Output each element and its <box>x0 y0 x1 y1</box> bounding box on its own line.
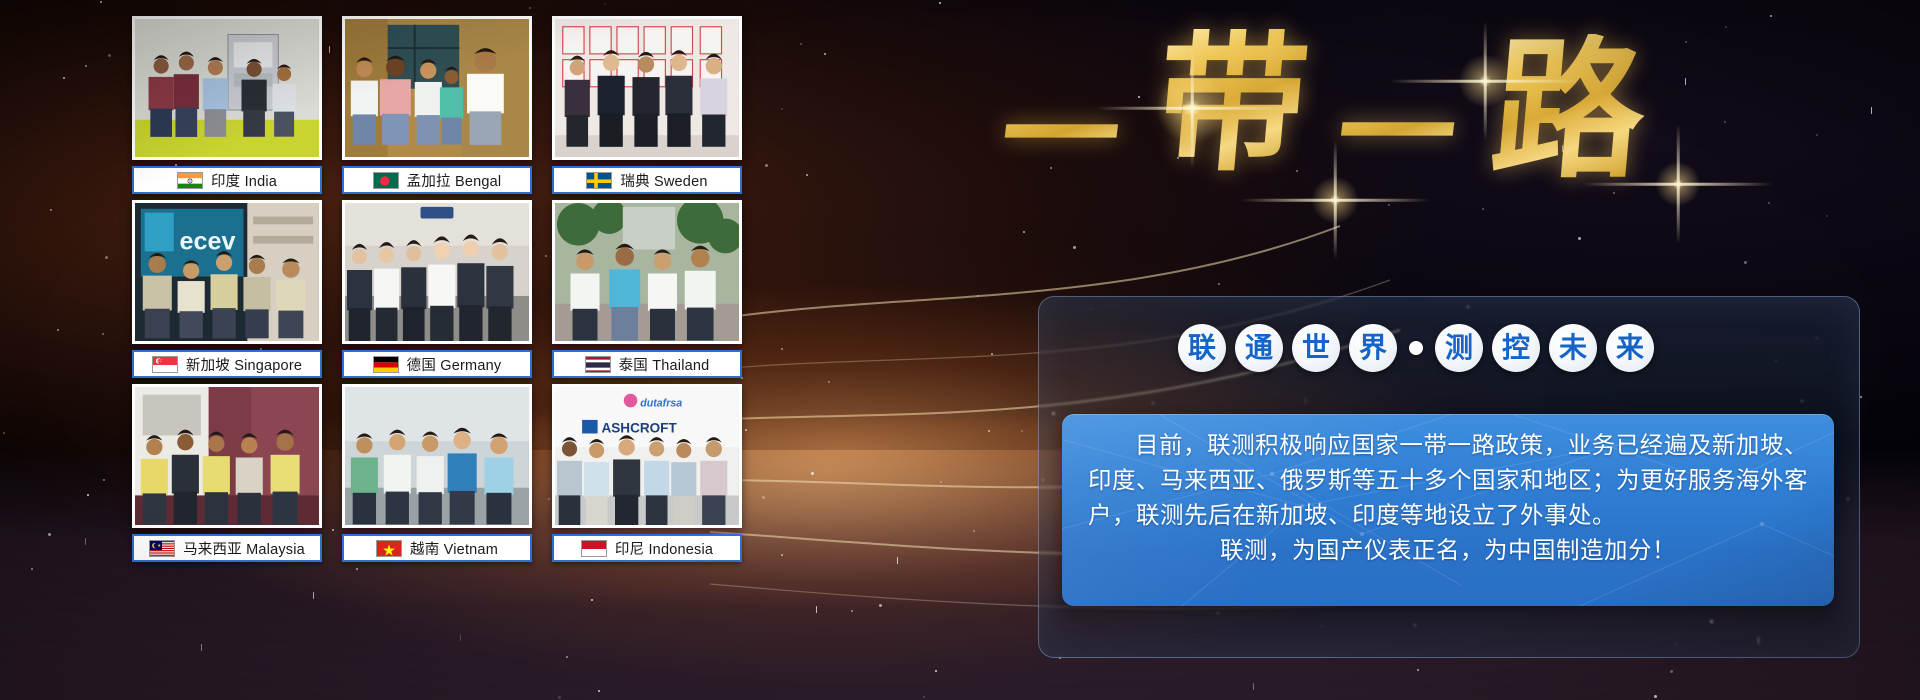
slogan-row: 联通世界测控未来 <box>1178 324 1654 372</box>
gallery-caption-label: 新加坡 Singapore <box>186 354 302 375</box>
gallery-photo[interactable]: dutafrsa ASHCROFT <box>552 384 742 528</box>
gallery-caption: 新加坡 Singapore <box>132 350 322 378</box>
svg-text:ecev: ecev <box>180 227 236 255</box>
gallery-caption-label: 孟加拉 Bengal <box>407 170 502 191</box>
gallery-item[interactable]: 越南 Vietnam <box>342 384 532 568</box>
svg-text:dutafrsa: dutafrsa <box>640 397 682 409</box>
slogan-char-b-3: 未 <box>1549 324 1597 372</box>
gallery-item[interactable]: 马来西亚 Malaysia <box>132 384 322 568</box>
gallery-item[interactable]: 德国 Germany <box>342 200 532 384</box>
gallery-photo[interactable] <box>342 200 532 344</box>
gallery-caption-label: 瑞典 Sweden <box>620 170 707 191</box>
gallery-photo[interactable] <box>132 384 322 528</box>
gallery-caption-label: 泰国 Thailand <box>619 354 710 375</box>
flag-india-icon <box>177 172 203 189</box>
gallery-caption-label: 印度 India <box>211 170 277 191</box>
gallery-photo[interactable]: ecev <box>132 200 322 344</box>
slogan-char-a-4: 界 <box>1349 324 1397 372</box>
gallery-photo[interactable] <box>552 200 742 344</box>
gallery-photo[interactable] <box>132 16 322 160</box>
description-paragraph-1: 目前，联测积极响应国家一带一路政策，业务已经遍及新加坡、印度、马来西亚、俄罗斯等… <box>1088 428 1808 533</box>
slogan-char-a-2: 通 <box>1235 324 1283 372</box>
flag-indonesia-icon <box>581 540 607 557</box>
gallery-item[interactable]: 孟加拉 Bengal <box>342 16 532 200</box>
gallery-item[interactable]: 印度 India <box>132 16 322 200</box>
belt-and-road-banner: 印度 India 孟加拉 Bengal <box>0 0 1920 700</box>
gallery-caption: 马来西亚 Malaysia <box>132 534 322 562</box>
gallery-caption: 孟加拉 Bengal <box>342 166 532 194</box>
slogan-char-a-1: 联 <box>1178 324 1226 372</box>
flag-malaysia-icon <box>149 540 175 557</box>
gallery-item[interactable]: dutafrsa ASHCROFT <box>552 384 742 568</box>
gallery-caption: 印度 India <box>132 166 322 194</box>
description-paragraph-2: 联测，为国产仪表正名，为中国制造加分！ <box>1088 533 1808 568</box>
gallery-caption-label: 德国 Germany <box>407 354 502 375</box>
slogan-char-b-4: 来 <box>1606 324 1654 372</box>
slogan-char-b-2: 控 <box>1492 324 1540 372</box>
flag-vietnam-icon <box>376 540 402 557</box>
flag-singapore-icon <box>152 356 178 373</box>
gallery-caption: 瑞典 Sweden <box>552 166 742 194</box>
gallery-caption: 泰国 Thailand <box>552 350 742 378</box>
gallery-item[interactable]: ecev <box>132 200 322 384</box>
gallery-item[interactable]: 泰国 Thailand <box>552 200 742 384</box>
gallery-caption: 越南 Vietnam <box>342 534 532 562</box>
gallery-caption: 德国 Germany <box>342 350 532 378</box>
description-text: 目前，联测积极响应国家一带一路政策，业务已经遍及新加坡、印度、马来西亚、俄罗斯等… <box>1088 428 1808 568</box>
slogan-char-b-1: 测 <box>1435 324 1483 372</box>
photo-gallery-grid: 印度 India 孟加拉 Bengal <box>132 16 752 584</box>
gallery-caption-label: 马来西亚 Malaysia <box>183 538 305 559</box>
slogan-separator-dot <box>1409 341 1423 355</box>
gallery-photo[interactable] <box>552 16 742 160</box>
gallery-photo[interactable] <box>342 384 532 528</box>
flag-sweden-icon <box>586 172 612 189</box>
gallery-photo[interactable] <box>342 16 532 160</box>
flag-thailand-icon <box>585 356 611 373</box>
description-card: 目前，联测积极响应国家一带一路政策，业务已经遍及新加坡、印度、马来西亚、俄罗斯等… <box>1062 414 1834 606</box>
gallery-item[interactable]: 瑞典 Sweden <box>552 16 742 200</box>
gallery-caption: 印尼 Indonesia <box>552 534 742 562</box>
gallery-caption-label: 越南 Vietnam <box>410 538 498 559</box>
slogan-char-a-3: 世 <box>1292 324 1340 372</box>
svg-text:ASHCROFT: ASHCROFT <box>601 421 677 436</box>
flag-germany-icon <box>373 356 399 373</box>
flag-bangladesh-icon <box>373 172 399 189</box>
gallery-caption-label: 印尼 Indonesia <box>615 538 713 559</box>
